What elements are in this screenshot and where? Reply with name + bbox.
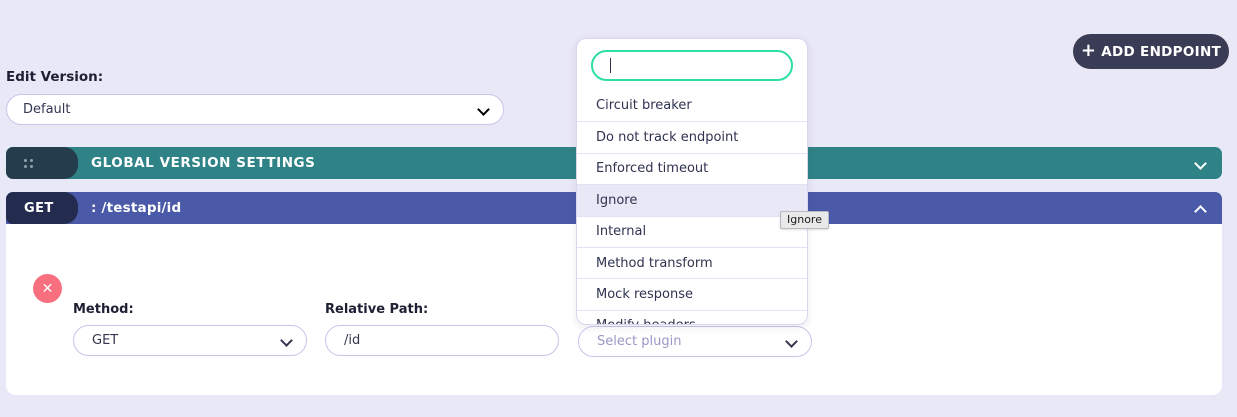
plugin-option-list: Circuit breaker Do not track endpoint En… [577, 90, 807, 325]
plugin-search-box[interactable] [591, 50, 793, 81]
version-select-value: Default [23, 102, 478, 117]
plus-icon: + [1081, 42, 1096, 60]
plugin-select-placeholder: Select plugin [597, 334, 786, 349]
plugin-option-ignore[interactable]: Ignore [577, 184, 807, 215]
remove-endpoint-button[interactable]: ✕ [33, 274, 62, 303]
method-label: Method: [73, 302, 307, 317]
method-select-value: GET [92, 333, 281, 348]
plugin-dropdown: Circuit breaker Do not track endpoint En… [576, 38, 808, 325]
relative-path-value: /id [344, 333, 544, 348]
chevron-up-icon [1195, 203, 1206, 214]
plugin-option[interactable]: Internal [577, 216, 807, 247]
method-select[interactable]: GET [73, 325, 307, 356]
plugin-option[interactable]: Do not track endpoint [577, 121, 807, 152]
plugin-option[interactable]: Modify headers [577, 310, 807, 325]
chevron-down-icon [281, 335, 292, 346]
plugin-option[interactable]: Enforced timeout [577, 153, 807, 184]
endpoint-bar-toggle[interactable] [1178, 203, 1222, 214]
add-endpoint-label: ADD ENDPOINT [1101, 44, 1221, 60]
plugin-select[interactable]: Select plugin [578, 326, 812, 357]
relative-path-input[interactable]: /id [325, 325, 559, 356]
plugin-search-input[interactable] [611, 57, 779, 74]
chevron-down-icon [478, 104, 489, 115]
global-bar-toggle[interactable] [1178, 158, 1222, 169]
drag-handle-icon [24, 159, 33, 168]
plugin-option[interactable]: Method transform [577, 247, 807, 278]
version-select[interactable]: Default [6, 94, 504, 125]
plugin-option[interactable]: Circuit breaker [577, 90, 807, 121]
relative-path-label: Relative Path: [325, 302, 559, 317]
global-bar-handle[interactable] [6, 147, 78, 179]
method-field: Method: GET [73, 302, 307, 356]
edit-version-label: Edit Version: [6, 69, 103, 85]
endpoint-method-badge: GET [6, 192, 78, 224]
relative-path-field: Relative Path: /id [325, 302, 559, 356]
chevron-down-icon [1195, 158, 1206, 169]
plugin-option[interactable]: Mock response [577, 278, 807, 309]
add-endpoint-button[interactable]: + ADD ENDPOINT [1073, 34, 1229, 69]
plugin-option-tooltip: Ignore [780, 211, 829, 229]
chevron-down-icon [786, 336, 797, 347]
plugin-field: Select plugin [578, 326, 812, 357]
